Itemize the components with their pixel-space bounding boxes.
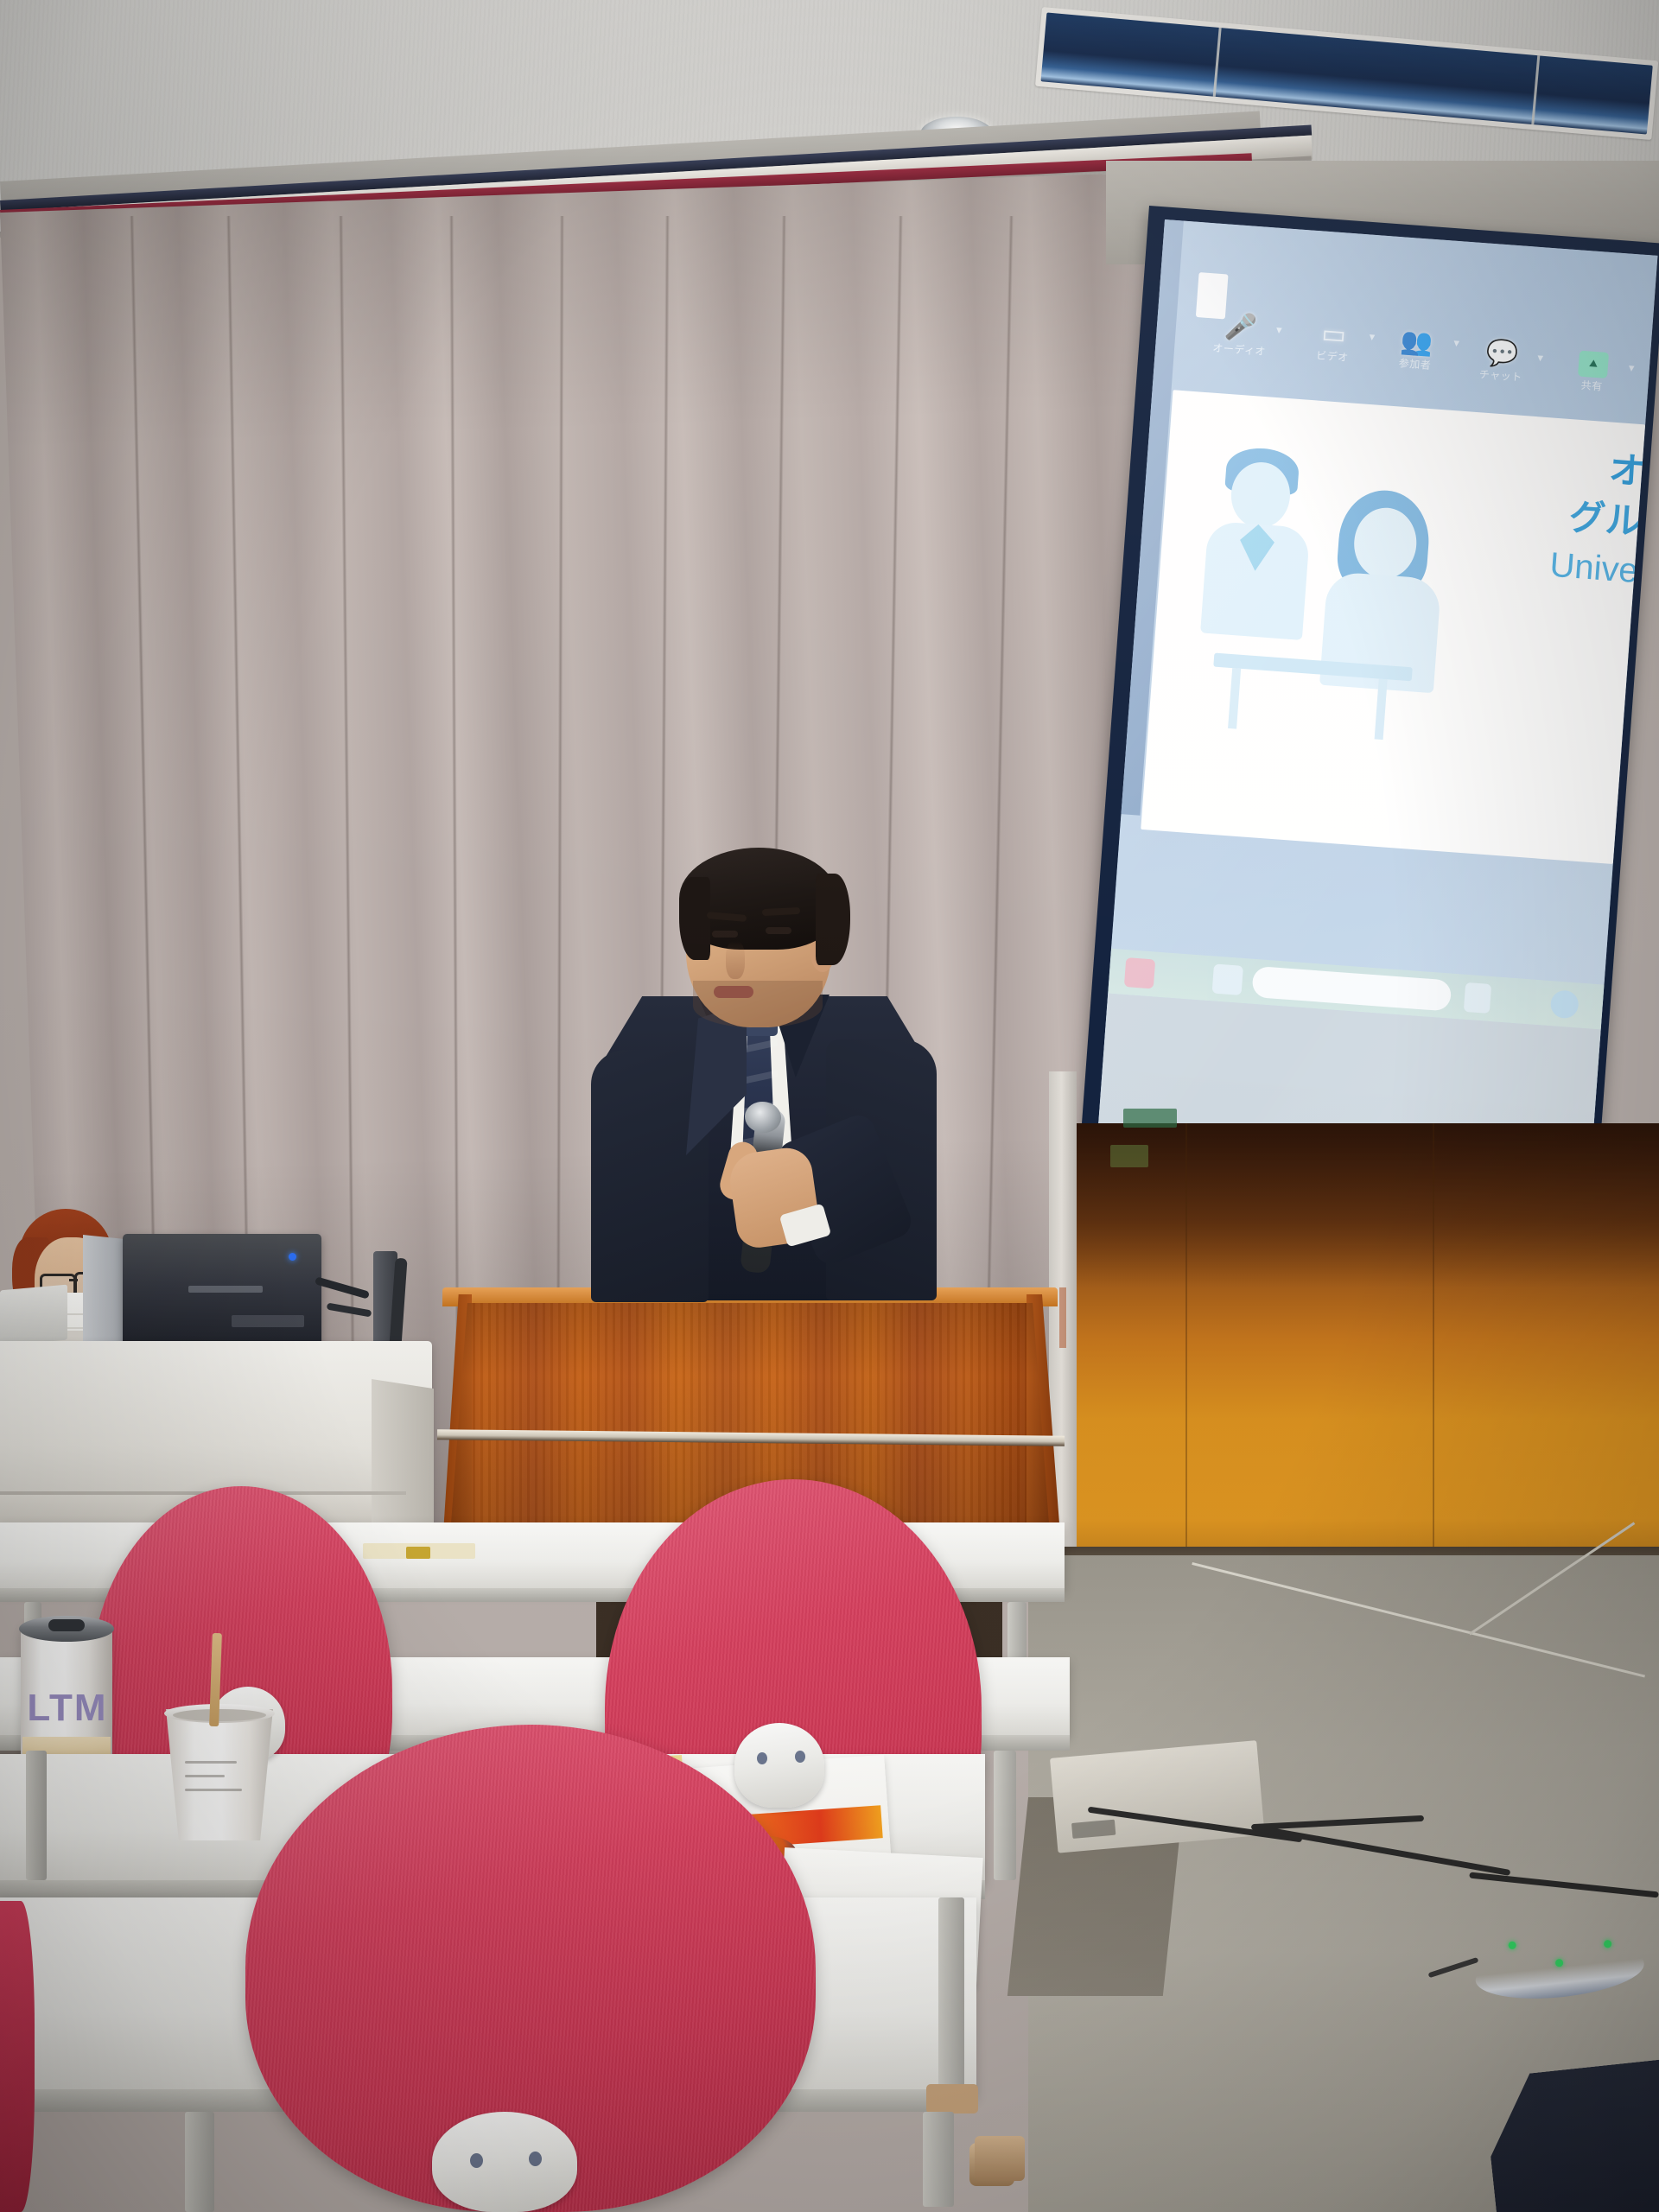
presenter-left-arm bbox=[591, 1050, 709, 1302]
projection-screen: 🎤 オーディオ ▾ ▭ ビデオ ▾ 👥 参加者 ▾ 💬 チャット bbox=[1096, 219, 1658, 1190]
wall-label-green bbox=[1110, 1145, 1148, 1167]
table-foot bbox=[926, 2084, 978, 2113]
operator-laptop-power-led bbox=[289, 1253, 296, 1261]
presenter-jaw-shadow bbox=[693, 981, 823, 1027]
cup-interior bbox=[173, 1709, 266, 1721]
cap-dot bbox=[757, 1752, 767, 1764]
presenter-mouth bbox=[714, 986, 753, 998]
presenter-hair-side bbox=[816, 874, 850, 965]
chair-back-4[interactable] bbox=[0, 1901, 35, 2212]
presenter bbox=[596, 851, 933, 1300]
table-leg bbox=[1007, 1602, 1027, 1659]
presenter-hair-side bbox=[679, 877, 710, 960]
photo-scene: 🎤 オーディオ ▾ ▭ ビデオ ▾ 👥 参加者 ▾ 💬 チャット bbox=[0, 0, 1659, 2212]
presenter-nose bbox=[726, 941, 745, 979]
wood-panel-seam bbox=[1433, 1123, 1434, 1573]
operator-tablet[interactable] bbox=[0, 1285, 67, 1346]
zoom-application-window: 🎤 オーディオ ▾ ▭ ビデオ ▾ 👥 参加者 ▾ 💬 チャット bbox=[1096, 219, 1658, 1190]
presenter-eye bbox=[766, 927, 791, 934]
table-leg bbox=[26, 1751, 47, 1880]
table-leg bbox=[938, 1897, 964, 2096]
wall-sign-green bbox=[1123, 1109, 1177, 1128]
av-desk-side-panel bbox=[372, 1379, 434, 1540]
presenter-eye bbox=[712, 931, 738, 938]
cap-dot bbox=[795, 1751, 805, 1763]
speakerphone-led bbox=[1508, 1941, 1516, 1949]
wood-wall-shadow bbox=[1067, 1123, 1659, 1287]
cap-dot bbox=[529, 2152, 542, 2166]
cap-dot bbox=[470, 2153, 483, 2168]
can-pull-tab bbox=[48, 1619, 85, 1631]
operator-laptop-brand bbox=[188, 1286, 263, 1293]
table-leg bbox=[994, 1751, 1016, 1880]
chair-headrest-cap-3 bbox=[432, 2112, 577, 2212]
operator-glasses-bridge bbox=[69, 1279, 78, 1281]
wood-panel-seam bbox=[1185, 1123, 1187, 1573]
table-foot bbox=[975, 2136, 1025, 2181]
chair-headrest-cap-2 bbox=[734, 1723, 824, 1808]
operator-laptop-vent bbox=[232, 1315, 304, 1327]
paper-marker bbox=[406, 1547, 430, 1559]
can-brand-label: LTM bbox=[24, 1687, 111, 1730]
screen-glare bbox=[1096, 219, 1658, 1190]
table-leg bbox=[185, 2112, 214, 2212]
table-leg bbox=[923, 2112, 954, 2207]
cup-printed-text bbox=[181, 1756, 252, 1808]
